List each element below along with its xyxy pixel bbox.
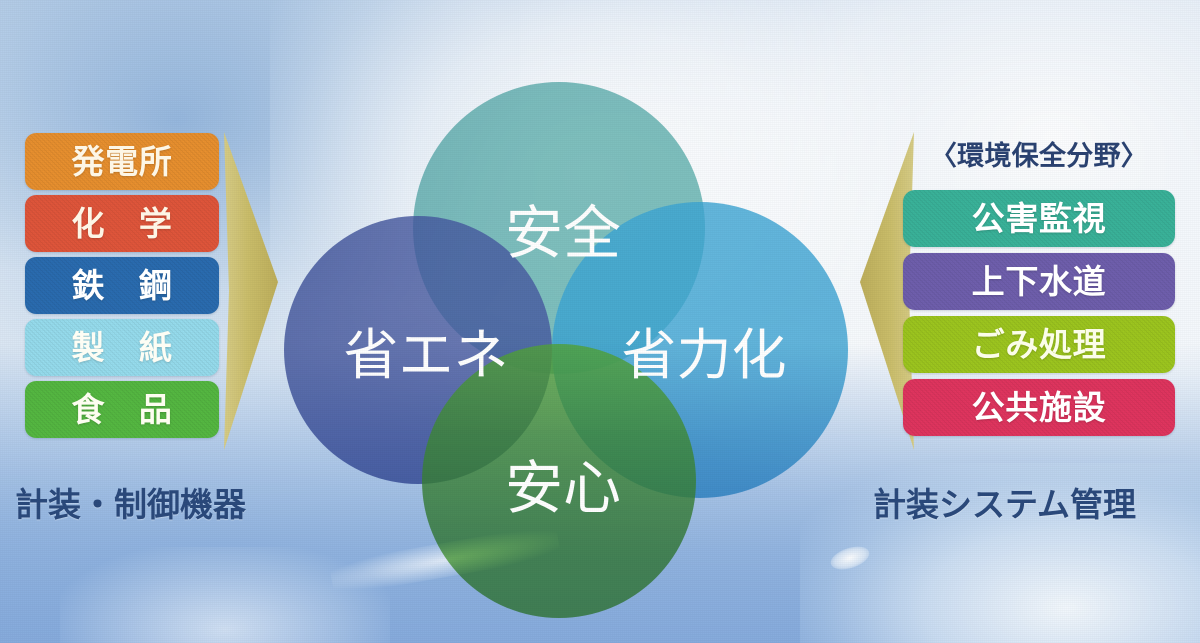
badge-label: 製 紙 — [72, 331, 173, 364]
badge-waste-treatment[interactable]: ごみ処理 — [903, 316, 1175, 373]
environment-field-title: 〈環境保全分野〉 — [903, 143, 1175, 170]
badge-label: 公共施設 — [972, 391, 1107, 424]
badge-label: 鉄 鋼 — [72, 269, 173, 302]
badge-label: 発電所 — [72, 145, 173, 178]
badge-food[interactable]: 食 品 — [25, 381, 219, 438]
venn-diagram: 安全 省エネ 省力化 安心 — [278, 58, 898, 638]
badge-label: 公害監視 — [972, 202, 1107, 235]
badge-public-facilities[interactable]: 公共施設 — [903, 379, 1175, 436]
badge-water-supply-sewerage[interactable]: 上下水道 — [903, 253, 1175, 310]
arrow-right-gold-wrapper — [218, 128, 286, 458]
badge-label: 上下水道 — [972, 265, 1107, 298]
right-category-list: 公害監視 上下水道 ごみ処理 公共施設 — [903, 190, 1175, 436]
badge-pollution-monitoring[interactable]: 公害監視 — [903, 190, 1175, 247]
diagram-canvas: 発電所 化 学 鉄 鋼 製 紙 食 品 — [0, 0, 1200, 643]
right-caption: 計装システム管理 — [873, 488, 1136, 521]
badge-paper[interactable]: 製 紙 — [25, 319, 219, 376]
left-category-list: 発電所 化 学 鉄 鋼 製 紙 食 品 — [25, 133, 219, 438]
badge-label: ごみ処理 — [972, 328, 1107, 361]
venn-label-labor-save: 省力化 — [621, 323, 786, 387]
venn-label-peace-mind: 安心 — [505, 454, 621, 522]
venn-label-energy-save: 省エネ — [343, 323, 508, 387]
badge-chemical[interactable]: 化 学 — [25, 195, 219, 252]
badge-steel[interactable]: 鉄 鋼 — [25, 257, 219, 314]
venn-label-safety: 安全 — [505, 199, 621, 267]
badge-label: 食 品 — [72, 393, 173, 426]
badge-label: 化 学 — [72, 207, 173, 240]
left-caption: 計装・制御機器 — [15, 488, 246, 521]
arrow-right-icon — [218, 128, 286, 454]
badge-power-plant[interactable]: 発電所 — [25, 133, 219, 190]
